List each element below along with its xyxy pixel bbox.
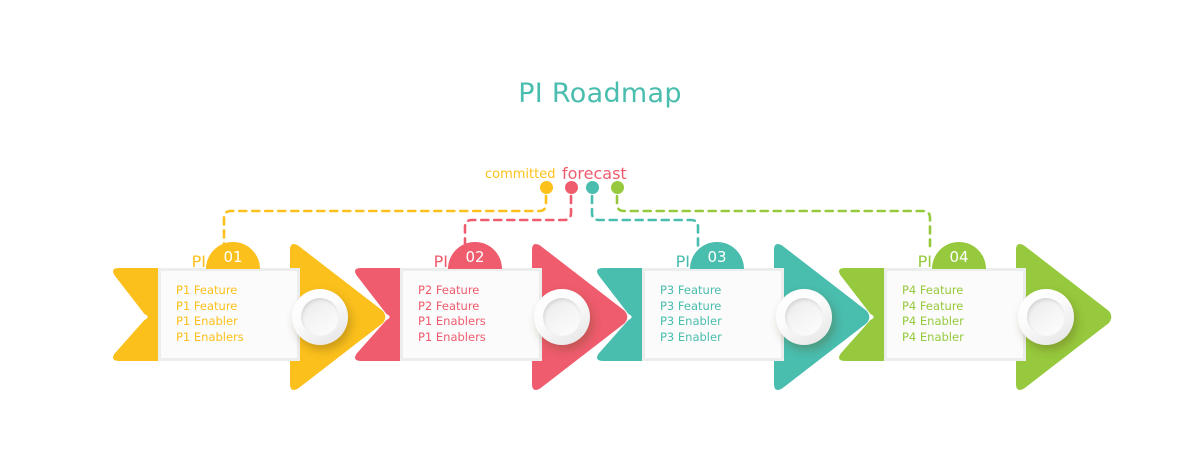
stage-item: P1 Feature: [176, 283, 300, 299]
stage-item: P4 Enabler: [902, 314, 1026, 330]
stage-item: P1 Enablers: [418, 314, 542, 330]
stage-knob-04[interactable]: [1018, 289, 1074, 345]
stage-item: P4 Enabler: [902, 330, 1026, 346]
badge-dome: 03: [690, 242, 744, 269]
badge-dome: 04: [932, 242, 986, 269]
stage-item: P1 Enabler: [176, 314, 300, 330]
stage-badge-01: PI01: [158, 241, 300, 269]
stage-item: P3 Feature: [660, 299, 784, 315]
stage-item: P3 Feature: [660, 283, 784, 299]
stage-item: P3 Enabler: [660, 330, 784, 346]
badge-number: 04: [932, 250, 986, 265]
stage-card-02: P2 FeatureP2 FeatureP1 EnablersP1 Enable…: [400, 268, 542, 361]
stage-badge-02: PI02: [400, 241, 542, 269]
pi-roadmap-infographic: PI Roadmap committed forecast P1 Feature…: [0, 0, 1200, 473]
stage-item-list: P4 FeatureP4 FeatureP4 EnablerP4 Enabler: [884, 268, 1026, 361]
badge-pi-label: PI: [676, 254, 690, 270]
stage-item: P4 Feature: [902, 283, 1026, 299]
stage-item-list: P3 FeatureP3 FeatureP3 EnablerP3 Enabler: [642, 268, 784, 361]
stage-badge-03: PI03: [642, 241, 784, 269]
badge-number: 02: [448, 250, 502, 265]
stage-knob-02[interactable]: [534, 289, 590, 345]
stage-knob-01[interactable]: [292, 289, 348, 345]
stage-card-01: P1 FeatureP1 FeatureP1 EnablerP1 Enabler…: [158, 268, 300, 361]
badge-number: 01: [206, 250, 260, 265]
stage-item: P4 Feature: [902, 299, 1026, 315]
badge-pi-label: PI: [918, 254, 932, 270]
badge-number: 03: [690, 250, 744, 265]
stage-item: P3 Enabler: [660, 314, 784, 330]
stage-item: P1 Enablers: [176, 330, 300, 346]
stage-item: P1 Feature: [176, 299, 300, 315]
stage-card-03: P3 FeatureP3 FeatureP3 EnablerP3 Enabler: [642, 268, 784, 361]
badge-pi-label: PI: [434, 254, 448, 270]
stage-card-04: P4 FeatureP4 FeatureP4 EnablerP4 Enabler: [884, 268, 1026, 361]
stage-item-list: P2 FeatureP2 FeatureP1 EnablersP1 Enable…: [400, 268, 542, 361]
stage-badge-04: PI04: [884, 241, 1026, 269]
stage-knob-03[interactable]: [776, 289, 832, 345]
badge-dome: 02: [448, 242, 502, 269]
stage-item: P2 Feature: [418, 283, 542, 299]
stage-item: P2 Feature: [418, 299, 542, 315]
badge-dome: 01: [206, 242, 260, 269]
stage-overlays: P1 FeatureP1 FeatureP1 EnablerP1 Enabler…: [0, 0, 1200, 473]
stage-item: P1 Enablers: [418, 330, 542, 346]
stage-item-list: P1 FeatureP1 FeatureP1 EnablerP1 Enabler…: [158, 268, 300, 361]
badge-pi-label: PI: [192, 254, 206, 270]
